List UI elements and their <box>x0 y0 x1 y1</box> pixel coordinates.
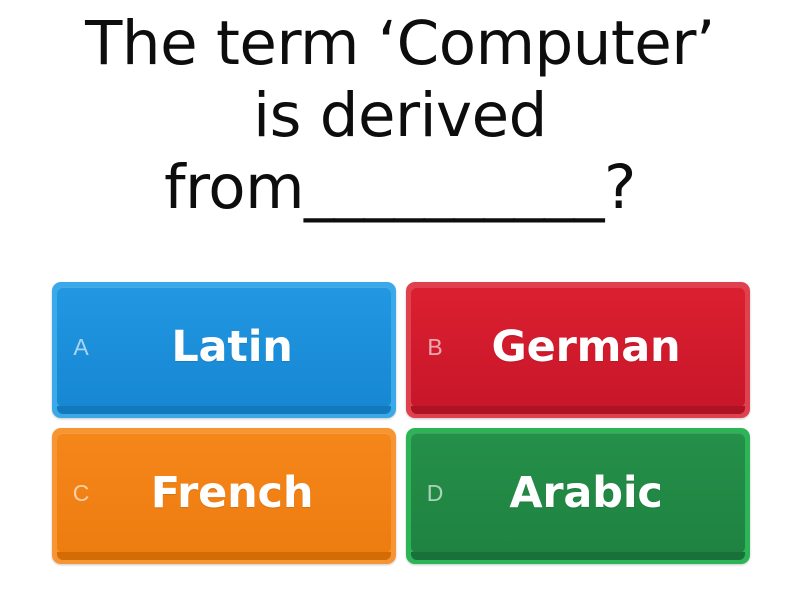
answer-content-a: A Latin <box>58 287 390 407</box>
answer-letter-c: C <box>58 480 104 507</box>
question-area: The term ‘Computer’ is derived from_____… <box>0 0 800 282</box>
question-text: The term ‘Computer’ is derived from_____… <box>30 8 770 224</box>
answer-content-d: D Arabic <box>412 433 744 553</box>
answer-letter-d: D <box>412 480 458 507</box>
answer-letter-b: B <box>412 334 458 361</box>
answer-label-b: German <box>458 322 744 372</box>
answer-option-d[interactable]: D Arabic <box>406 428 750 564</box>
answer-content-c: C French <box>58 433 390 553</box>
answer-option-b[interactable]: B German <box>406 282 750 418</box>
answer-options-grid: A Latin B German C French D Arabic <box>0 282 800 600</box>
answer-option-a[interactable]: A Latin <box>52 282 396 418</box>
answer-label-a: Latin <box>104 322 390 372</box>
quiz-question-screen: The term ‘Computer’ is derived from_____… <box>0 0 800 600</box>
answer-label-c: French <box>104 468 390 518</box>
answer-option-c[interactable]: C French <box>52 428 396 564</box>
answer-content-b: B German <box>412 287 744 407</box>
answer-label-d: Arabic <box>458 468 744 518</box>
answer-letter-a: A <box>58 334 104 361</box>
